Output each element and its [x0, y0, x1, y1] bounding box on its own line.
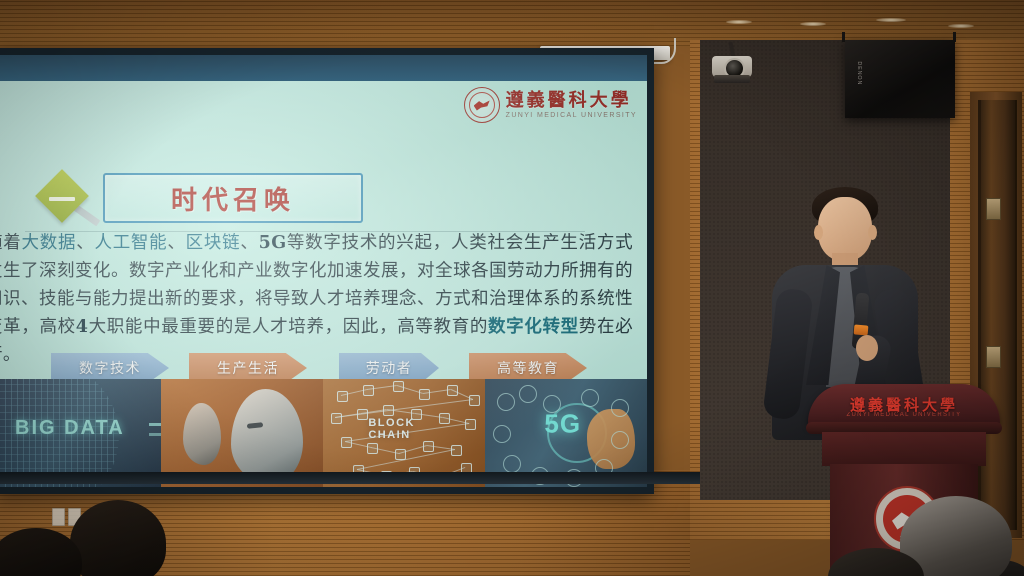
body-segment: 、	[167, 233, 185, 253]
blockchain-link	[335, 399, 473, 418]
blockchain-node	[419, 389, 430, 400]
blockchain-node	[451, 445, 462, 456]
body-segment: 人工智能	[94, 233, 167, 253]
lecture-hall-scene: DENON 遵義醫科大學 ZUNYI MEDICAL UNIVERSITY	[0, 0, 1024, 576]
five-g-service-icon	[611, 431, 629, 449]
human-face-silhouette	[183, 403, 221, 465]
slide-title: 时代召唤	[171, 180, 295, 217]
ptz-camera-icon	[710, 42, 754, 86]
presenter-head	[818, 197, 872, 261]
ceiling-downlight	[726, 20, 752, 24]
process-chevron-label: 高等教育	[497, 358, 559, 378]
robot-head-graphic	[231, 389, 303, 484]
university-seal-icon	[464, 87, 500, 123]
body-segment: 5G	[259, 233, 287, 253]
five-g-service-icon	[493, 425, 511, 443]
body-segment: 随着	[0, 233, 21, 253]
five-g-service-icon	[581, 389, 599, 407]
slide-body-text: 随着大数据、人工智能、区块链、5G等数字技术的兴起，人类社会生产生活方式发生了深…	[0, 229, 647, 369]
university-logo: 遵義醫科大學 ZUNYI MEDICAL UNIVERSITY	[464, 87, 637, 123]
data-dash	[149, 423, 161, 426]
projector-screen-icon: 遵義醫科大學 ZUNYI MEDICAL UNIVERSITY 时代召唤 随着大…	[0, 48, 654, 494]
body-segment: 大职能中最重要的是人才培养，因此，高等教育的	[88, 317, 488, 337]
ceiling-downlight	[800, 22, 826, 26]
audience-head	[70, 500, 166, 576]
logo-name-en: ZUNYI MEDICAL UNIVERSITY	[506, 112, 637, 119]
lectern-top: 遵義醫科大學 ZUNYI MEDICAL UNIVERSITY	[808, 384, 1000, 426]
presenter-ear	[868, 225, 877, 240]
camera-base	[714, 75, 750, 83]
lectern-name-en: ZUNYI MEDICAL UNIVERSITY	[808, 412, 1000, 418]
presenter-ear	[814, 225, 823, 240]
photo-panel-blockchain: BLOCK CHAIN	[323, 379, 485, 487]
microphone-band	[854, 324, 869, 335]
five-g-service-icon	[497, 393, 515, 411]
five-g-service-icon	[543, 395, 561, 413]
logo-text-block: 遵義醫科大學 ZUNYI MEDICAL UNIVERSITY	[506, 92, 637, 119]
logo-name-cn: 遵義醫科大學	[506, 92, 637, 110]
presentation-slide: 遵義醫科大學 ZUNYI MEDICAL UNIVERSITY 时代召唤 随着大…	[0, 81, 647, 487]
data-dash	[149, 433, 161, 436]
ceiling-downlight	[876, 18, 906, 22]
lectern-neck	[822, 432, 986, 466]
body-segment: 4	[76, 317, 89, 337]
blockchain-node	[465, 419, 476, 430]
door-hinge	[986, 198, 1001, 220]
five-g-service-icon	[611, 399, 629, 417]
body-segment: 数字化转型	[488, 317, 579, 337]
body-segment: 大数据	[21, 233, 76, 253]
blockchain-node	[331, 413, 342, 424]
process-chevron-label: 数字技术	[79, 358, 141, 378]
blockchain-node	[469, 395, 480, 406]
badge-number-glyph	[49, 197, 75, 201]
photo-panel-big-data: BIG DATA	[0, 379, 161, 487]
body-segment: 、	[76, 233, 94, 253]
screen-baseboard	[0, 472, 700, 484]
slide-photo-strip: BIG DATA BLOCK CHAIN 5G	[0, 379, 647, 487]
photo-caption-5g: 5G	[544, 409, 581, 440]
photo-panel-5g: 5G	[485, 379, 647, 487]
roller-power-cord	[652, 38, 676, 64]
wall-socket[interactable]	[52, 508, 65, 526]
screen-top-band	[0, 55, 647, 81]
presenter-hand	[856, 335, 878, 361]
body-segment: 区块链	[186, 233, 241, 253]
speaker-brand-label: DENON	[856, 61, 861, 85]
five-g-service-icon	[503, 455, 521, 473]
photo-caption-big-data: BIG DATA	[15, 417, 125, 440]
door-hinge	[986, 346, 1001, 368]
ceiling-downlight	[948, 24, 974, 28]
five-g-service-icon	[519, 385, 537, 403]
body-segment: 、	[240, 233, 258, 253]
photo-panel-ai	[161, 379, 323, 487]
process-chevron-label: 生产生活	[217, 358, 279, 378]
slide-title-box: 时代召唤	[103, 173, 363, 223]
seal-bird-glyph	[474, 99, 490, 111]
process-chevron-label: 劳动者	[366, 358, 413, 378]
